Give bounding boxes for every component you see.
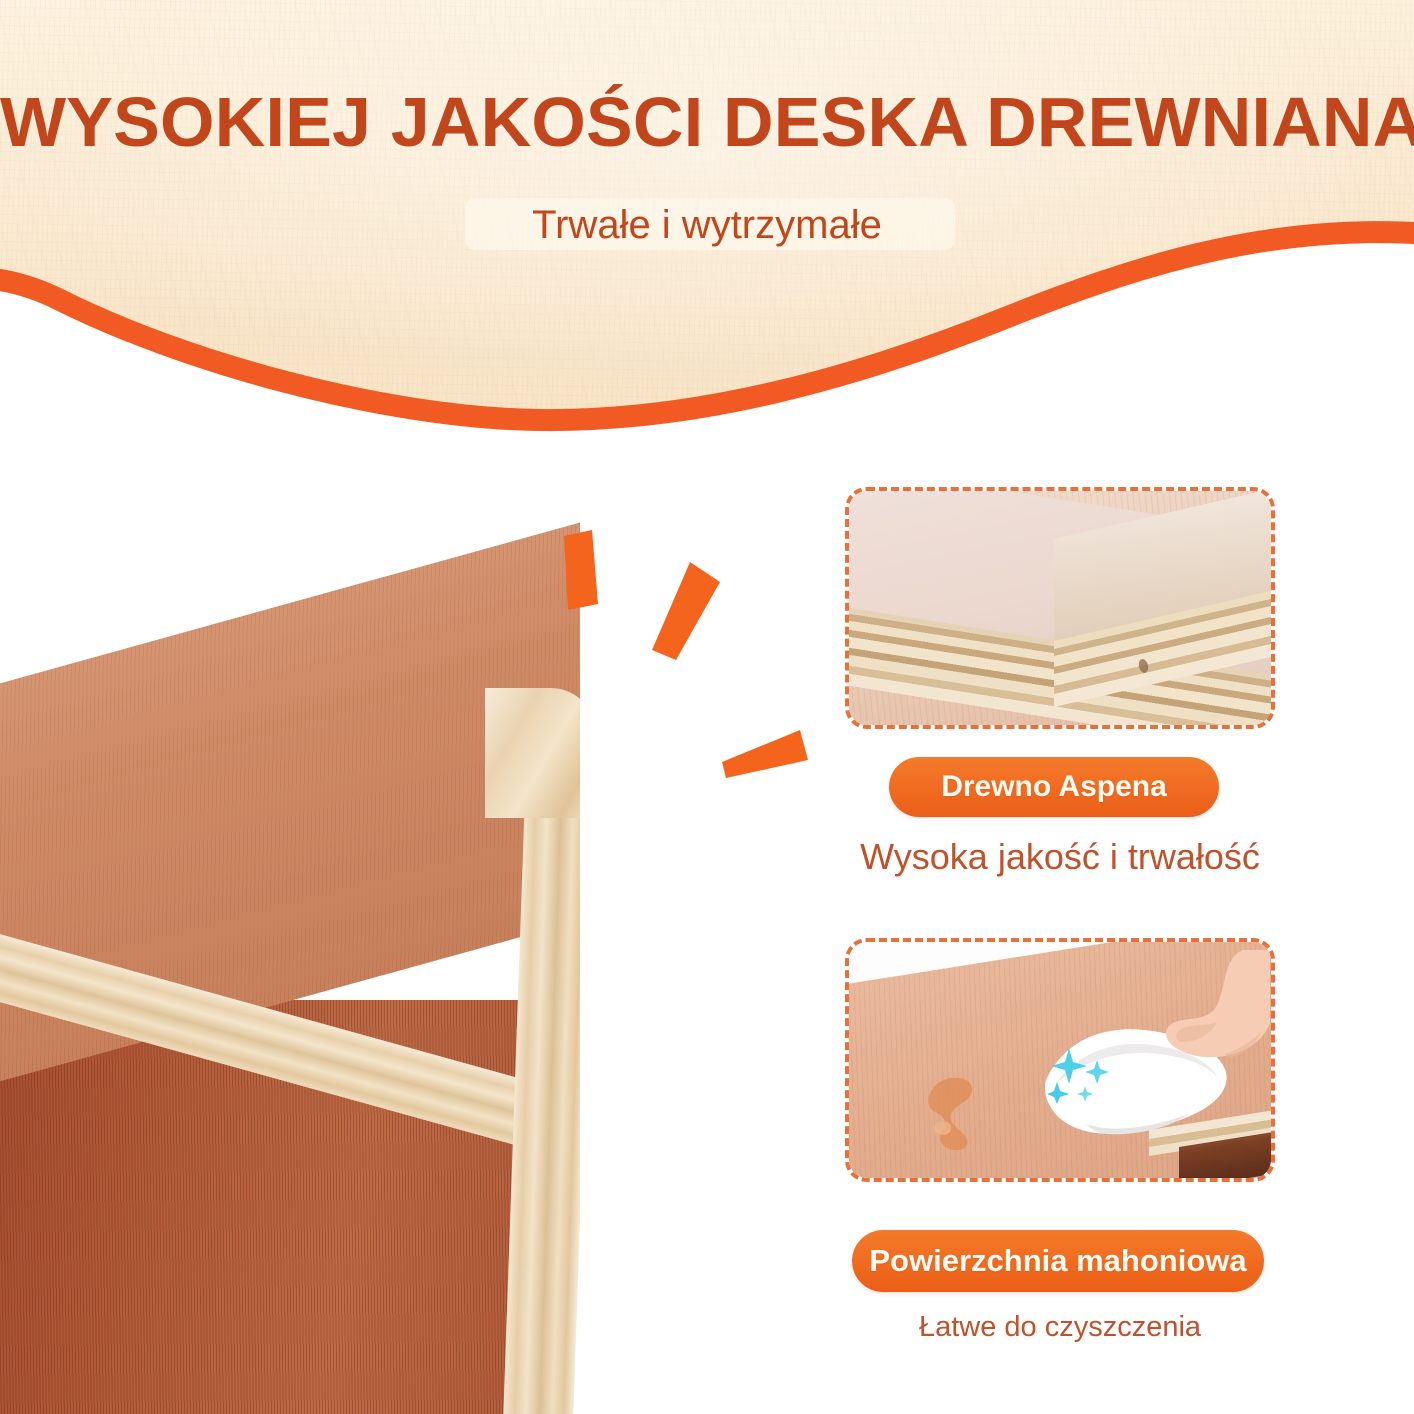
page-title: WYSOKIEJ JAKOŚCI DESKA DREWNIANA bbox=[0, 82, 1414, 162]
header-banner: WYSOKIEJ JAKOŚCI DESKA DREWNIANA Trwałe … bbox=[0, 0, 1414, 440]
feature-caption-wood: Wysoka jakość i trwałość bbox=[845, 836, 1275, 878]
feature-caption-surface: Łatwe do czyszczenia bbox=[845, 1311, 1275, 1344]
page-subtitle: Trwałe i wytrzymałe bbox=[0, 203, 1414, 248]
feature-pill-wood: Drewno Aspena bbox=[889, 757, 1219, 817]
feature-image-wiping-surface bbox=[849, 942, 1271, 1178]
liquid-spill-icon bbox=[921, 1074, 999, 1154]
product-infographic: WYSOKIEJ JAKOŚCI DESKA DREWNIANA Trwałe … bbox=[0, 0, 1414, 1414]
feature-image-aspen-plywood bbox=[849, 491, 1271, 725]
sparkle-icon bbox=[1045, 1046, 1115, 1104]
feature-pill-surface: Powierzchnia mahoniowa bbox=[852, 1230, 1264, 1292]
burst-wedges-icon bbox=[540, 520, 870, 810]
hand-icon bbox=[1125, 950, 1270, 1092]
feature-card-wood bbox=[845, 487, 1275, 729]
feature-card-surface bbox=[845, 938, 1275, 1182]
